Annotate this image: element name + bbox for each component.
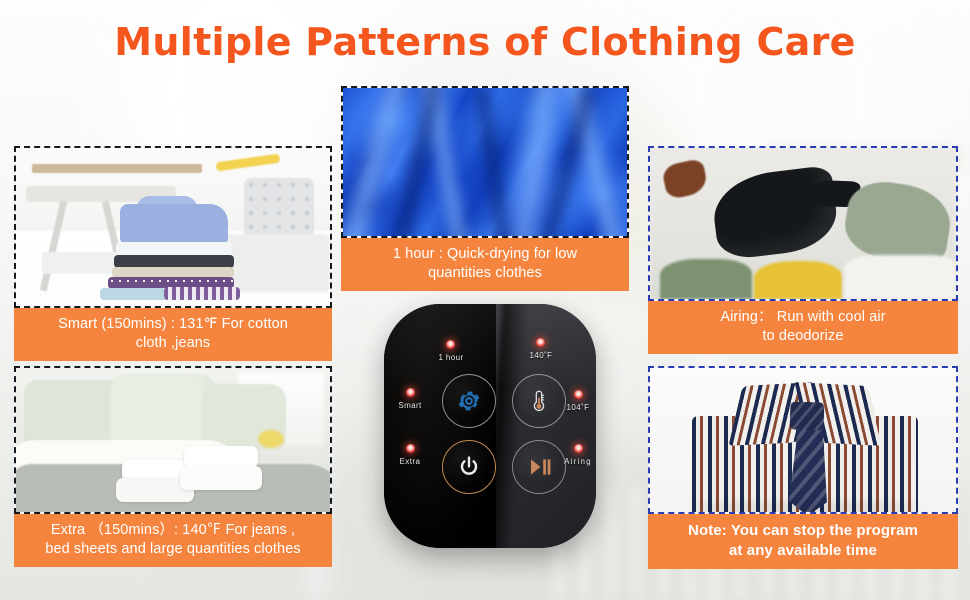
note-photo: [648, 366, 958, 514]
dryer-control-panel[interactable]: 1 hour 140˚F Smart 104˚F Extra Airing: [384, 304, 596, 548]
extra-mode-caption: Extra （150mins）: 140℉ For jeans , bed sh…: [14, 514, 332, 567]
led-indicator-smart: [406, 388, 415, 397]
play-pause-icon: [526, 456, 552, 478]
power-button[interactable]: [442, 440, 496, 494]
airing-mode-caption: Airing： Run with cool air to deodorize: [648, 301, 958, 354]
note-panel: Note: You can stop the program at any av…: [648, 366, 958, 569]
page-title: Multiple Patterns of Clothing Care: [0, 20, 970, 64]
thermometer-icon: [526, 388, 552, 414]
smart-mode-caption: Smart (150mins) : 131℉ For cotton cloth …: [14, 308, 332, 361]
play-pause-button[interactable]: [512, 440, 566, 494]
smart-mode-panel: Smart (150mins) : 131℉ For cotton cloth …: [14, 146, 332, 361]
one-hour-mode-caption: 1 hour : Quick-drying for low quantities…: [341, 238, 629, 291]
airing-mode-photo: [648, 146, 958, 301]
extra-mode-photo: [14, 366, 332, 514]
one-hour-mode-panel: 1 hour : Quick-drying for low quantities…: [341, 86, 629, 291]
power-icon: [457, 455, 481, 479]
mode-button[interactable]: [442, 374, 496, 428]
led-label-smart: Smart: [384, 401, 437, 410]
led-label-140f: 140˚F: [512, 351, 570, 360]
control-panel-left-half: [384, 304, 496, 548]
led-indicator-140f: [536, 338, 545, 347]
note-caption: Note: You can stop the program at any av…: [648, 514, 958, 569]
airing-mode-panel: Airing： Run with cool air to deodorize: [648, 146, 958, 354]
one-hour-mode-photo: [341, 86, 629, 238]
extra-mode-panel: Extra （150mins）: 140℉ For jeans , bed sh…: [14, 366, 332, 567]
led-indicator-extra: [406, 444, 415, 453]
temperature-button[interactable]: [512, 374, 566, 428]
gear-icon: [457, 389, 481, 413]
smart-mode-photo: [14, 146, 332, 308]
led-indicator-1hour: [446, 340, 455, 349]
infographic-page: Multiple Patterns of Clothing Care: [0, 0, 970, 600]
led-indicator-airing: [574, 444, 583, 453]
led-indicator-104f: [574, 390, 583, 399]
led-label-1hour: 1 hour: [422, 353, 480, 362]
led-label-extra: Extra: [384, 457, 437, 466]
